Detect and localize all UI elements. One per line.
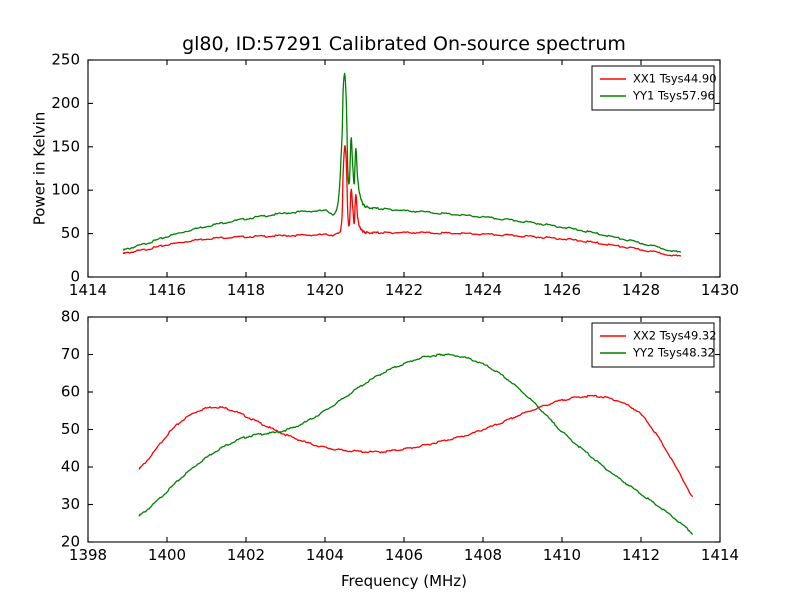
xtick-label-bottom-6: 1410 xyxy=(543,546,581,564)
y-axis-label-top: Power in Kelvin xyxy=(31,112,49,226)
series-line-bottom-0 xyxy=(139,395,692,496)
xtick-label-top-7: 1428 xyxy=(622,281,660,299)
ytick-label-top-0: 0 xyxy=(70,268,80,286)
ytick-label-top-3: 150 xyxy=(51,137,80,155)
panel-bottom: 1398140014021404140614081410141214142030… xyxy=(61,308,739,591)
ytick-label-bottom-6: 80 xyxy=(61,308,80,326)
legend-bottom: XX2 Tsys49.32YY2 Tsys48.32 xyxy=(592,323,717,367)
legend-top: XX1 Tsys44.90YY1 Tsys57.96 xyxy=(592,66,717,110)
figure-canvas: 1414141614181420142214241426142814300501… xyxy=(0,0,800,600)
xtick-label-bottom-7: 1412 xyxy=(622,546,660,564)
series-line-top-0 xyxy=(124,146,681,256)
legend-label-bottom-0: XX2 Tsys49.32 xyxy=(633,329,717,343)
xtick-label-bottom-2: 1402 xyxy=(227,546,265,564)
xtick-label-top-5: 1424 xyxy=(464,281,502,299)
panel-top: 1414141614181420142214241426142814300501… xyxy=(31,33,740,299)
legend-label-top-1: YY1 Tsys57.96 xyxy=(632,89,715,103)
ytick-label-bottom-4: 60 xyxy=(61,383,80,401)
plot-title: gl80, ID:57291 Calibrated On-source spec… xyxy=(182,33,626,55)
ytick-label-bottom-3: 50 xyxy=(61,420,80,438)
xtick-label-bottom-5: 1408 xyxy=(464,546,502,564)
xtick-label-bottom-8: 1414 xyxy=(701,546,739,564)
ytick-label-bottom-2: 40 xyxy=(61,458,80,476)
legend-label-top-0: XX1 Tsys44.90 xyxy=(633,72,717,86)
ytick-label-top-5: 250 xyxy=(51,51,80,69)
x-axis-label-bottom: Frequency (MHz) xyxy=(341,572,467,590)
ytick-label-bottom-0: 20 xyxy=(61,533,80,551)
legend-label-bottom-1: YY2 Tsys48.32 xyxy=(632,346,715,360)
ytick-label-top-2: 100 xyxy=(51,181,80,199)
xtick-label-top-4: 1422 xyxy=(385,281,423,299)
ytick-label-bottom-1: 30 xyxy=(61,495,80,513)
spectrum-figure: 1414141614181420142214241426142814300501… xyxy=(0,0,800,600)
xtick-label-bottom-3: 1404 xyxy=(306,546,344,564)
ytick-label-bottom-5: 70 xyxy=(61,345,80,363)
xtick-label-top-8: 1430 xyxy=(701,281,739,299)
xtick-label-top-2: 1418 xyxy=(227,281,265,299)
xtick-label-bottom-1: 1400 xyxy=(148,546,186,564)
series-line-bottom-1 xyxy=(139,354,692,534)
ytick-label-top-1: 50 xyxy=(61,224,80,242)
xtick-label-bottom-4: 1406 xyxy=(385,546,423,564)
xtick-label-top-6: 1426 xyxy=(543,281,581,299)
xtick-label-top-3: 1420 xyxy=(306,281,344,299)
xtick-label-top-1: 1416 xyxy=(148,281,186,299)
ytick-label-top-4: 200 xyxy=(51,94,80,112)
